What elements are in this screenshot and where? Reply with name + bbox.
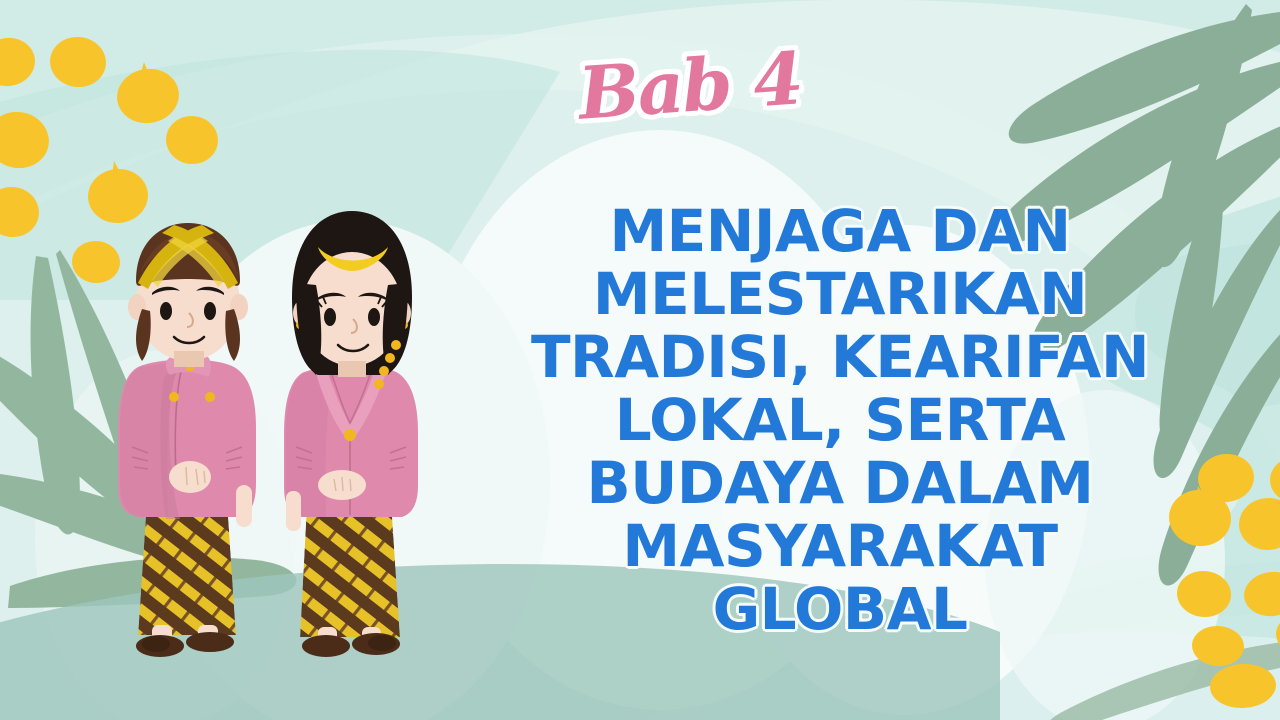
woman-hair-bead-2 <box>385 353 395 363</box>
woman-eye-right <box>368 308 380 326</box>
woman-sandal-left <box>302 635 350 657</box>
man-button-right <box>205 392 215 402</box>
slide-title: MENJAGA DAN MELESTARIKAN TRADISI, KEARIF… <box>460 200 1220 641</box>
chapter-label: Bab 4 <box>572 30 808 142</box>
title-line-6: MASYARAKAT <box>460 515 1220 578</box>
title-line-4: LOKAL, SERTA <box>460 389 1220 452</box>
woman-brooch <box>344 429 356 441</box>
javanese-man-figure <box>118 223 256 657</box>
woman-hair-bead-1 <box>391 340 401 350</box>
title-line-1: MENJAGA DAN <box>460 200 1220 263</box>
woman-kebaya <box>284 366 418 532</box>
chapter-badge: Bab 4 <box>575 38 805 138</box>
man-button-left <box>169 392 179 402</box>
javanese-woman-figure <box>284 211 418 657</box>
woman-eye-left <box>324 308 336 326</box>
man-eye-right <box>204 302 216 320</box>
character-illustration-group <box>90 185 490 685</box>
man-head <box>128 223 248 367</box>
woman-hair-bead-3 <box>379 366 389 376</box>
man-right-hand <box>236 485 252 527</box>
man-eye-left <box>160 302 172 320</box>
title-line-2: MELESTARIKAN <box>460 263 1220 326</box>
woman-hair-bead-4 <box>374 379 384 389</box>
man-sandal-right <box>186 632 234 652</box>
title-line-7: GLOBAL <box>460 578 1220 641</box>
title-line-5: BUDAYA DALAM <box>460 452 1220 515</box>
title-line-3: TRADISI, KEARIFAN <box>460 326 1220 389</box>
slide-canvas: Bab 4 MENJAGA DAN MELESTARIKAN TRADISI, … <box>0 0 1280 720</box>
woman-head <box>292 211 412 389</box>
man-beskap-jacket <box>118 352 256 527</box>
woman-left-hand <box>286 491 301 531</box>
